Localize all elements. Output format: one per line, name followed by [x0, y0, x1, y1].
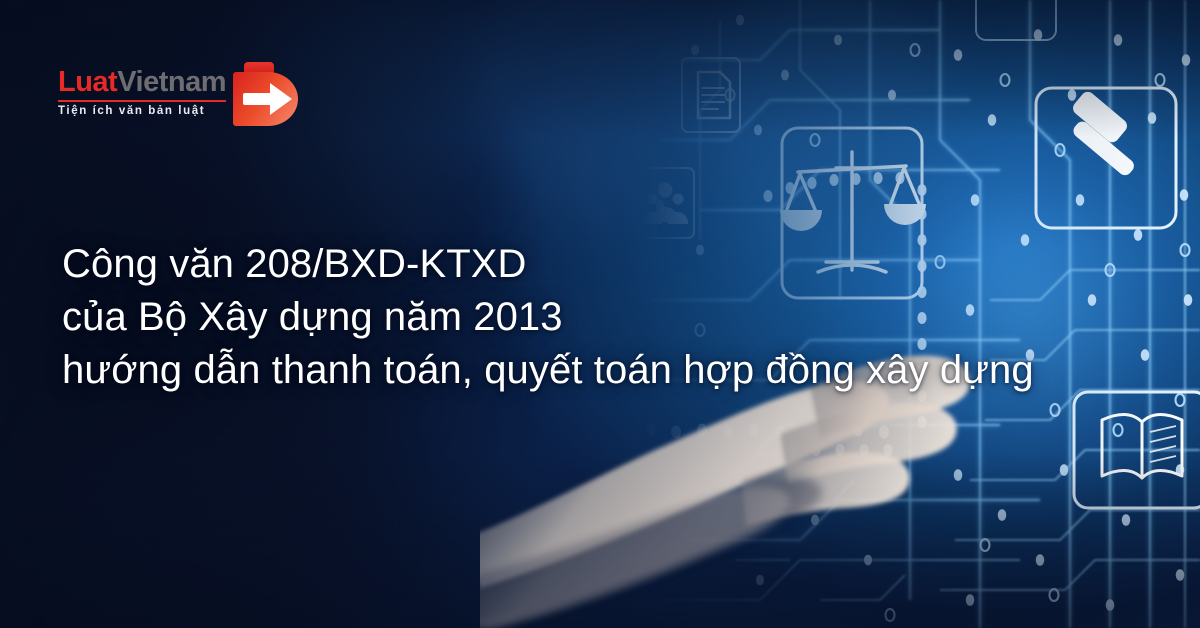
red-folder-arrow-icon	[232, 58, 306, 128]
logo-text-block: LuatVietnam Tiện ích văn bản luật	[58, 68, 226, 118]
logo-red-rule	[58, 100, 226, 102]
logo-word-vietnam: Vietnam	[117, 66, 226, 98]
banner: LuatVietnam Tiện ích văn bản luật	[0, 0, 1200, 628]
page-title: Công văn 208/BXD-KTXD của Bộ Xây dựng nă…	[62, 238, 1192, 396]
logo-word-luat: Luat	[58, 66, 117, 98]
luatvietnam-logo[interactable]: LuatVietnam Tiện ích văn bản luật	[58, 58, 306, 128]
headline-line-1: Công văn 208/BXD-KTXD	[62, 238, 1192, 291]
headline-line-3: hướng dẫn thanh toán, quyết toán hợp đồn…	[62, 344, 1192, 397]
logo-wordmark: LuatVietnam	[58, 68, 226, 97]
headline-line-2: của Bộ Xây dựng năm 2013	[62, 291, 1192, 344]
logo-tagline: Tiện ích văn bản luật	[58, 106, 205, 118]
